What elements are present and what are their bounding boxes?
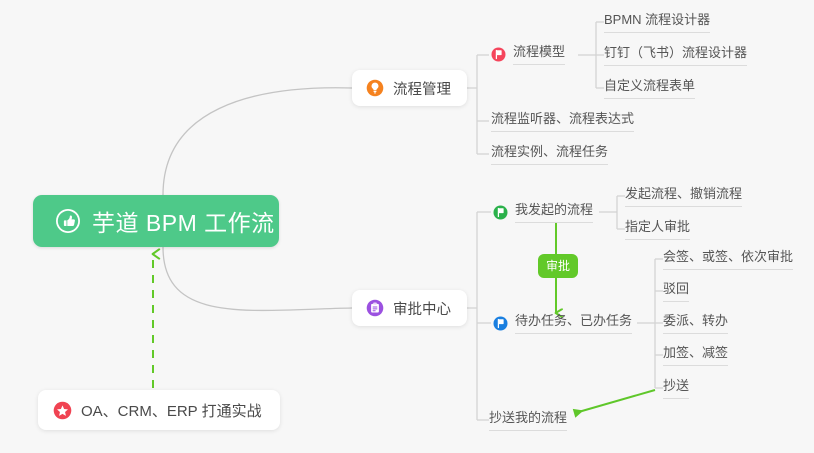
leaf-node-reject[interactable]: 驳回: [663, 281, 689, 302]
sub-label-my-initiated-process: 我发起的流程: [515, 202, 593, 223]
leaf-node-process-instance[interactable]: 流程实例、流程任务: [491, 144, 608, 165]
flag-icon: [493, 205, 508, 220]
star-icon: [53, 401, 72, 420]
flag-icon: [491, 47, 506, 62]
leaf-node-dingtalk-designer[interactable]: 钉钉（飞书）流程设计器: [604, 45, 747, 66]
arrow-cc-to-cc-my-process: [575, 390, 655, 413]
callout-card-integration[interactable]: OA、CRM、ERP 打通实战: [38, 390, 280, 430]
root-node[interactable]: 芋道 BPM 工作流: [33, 195, 279, 247]
root-label: 芋道 BPM 工作流: [92, 204, 275, 238]
leaf-node-start-cancel-process[interactable]: 发起流程、撤销流程: [625, 186, 742, 207]
sub-node-todo-done-tasks[interactable]: 待办任务、已办任务: [493, 313, 632, 334]
sub-label-todo-done-tasks: 待办任务、已办任务: [515, 313, 632, 334]
clipboard-icon: [366, 299, 384, 317]
mindmap-canvas: 芋道 BPM 工作流 流程管理 审批中心: [0, 0, 814, 453]
edge-root-to-process-management: [163, 88, 352, 195]
sub-node-my-initiated-process[interactable]: 我发起的流程: [493, 202, 593, 223]
leaf-node-cc[interactable]: 抄送: [663, 378, 689, 399]
leaf-node-countersign-modes[interactable]: 会签、或签、依次审批: [663, 249, 793, 270]
leaf-node-bpmn-designer[interactable]: BPMN 流程设计器: [604, 12, 710, 33]
leaf-node-add-remove-sign[interactable]: 加签、减签: [663, 345, 728, 366]
branch-node-process-management[interactable]: 流程管理: [352, 70, 467, 106]
leaf-node-custom-process-form[interactable]: 自定义流程表单: [604, 78, 695, 99]
arrow-label-approval: 审批: [538, 254, 578, 278]
leaf-node-assignee-approval[interactable]: 指定人审批: [625, 219, 690, 240]
edge-root-to-approval-center: [163, 247, 352, 310]
thumbs-up-icon: [55, 208, 81, 234]
leaf-node-cc-to-me[interactable]: 抄送我的流程: [489, 410, 567, 431]
flag-icon: [493, 316, 508, 331]
leaf-node-process-listener[interactable]: 流程监听器、流程表达式: [491, 111, 634, 132]
branch-label-process-management: 流程管理: [393, 78, 451, 99]
lightbulb-icon: [366, 79, 384, 97]
branch-node-approval-center[interactable]: 审批中心: [352, 290, 467, 326]
branch-label-approval-center: 审批中心: [393, 298, 451, 319]
callout-label-integration: OA、CRM、ERP 打通实战: [81, 400, 262, 421]
sub-node-process-model[interactable]: 流程模型: [491, 44, 565, 65]
leaf-node-delegate-transfer[interactable]: 委派、转办: [663, 313, 728, 334]
sub-label-process-model: 流程模型: [513, 44, 565, 65]
